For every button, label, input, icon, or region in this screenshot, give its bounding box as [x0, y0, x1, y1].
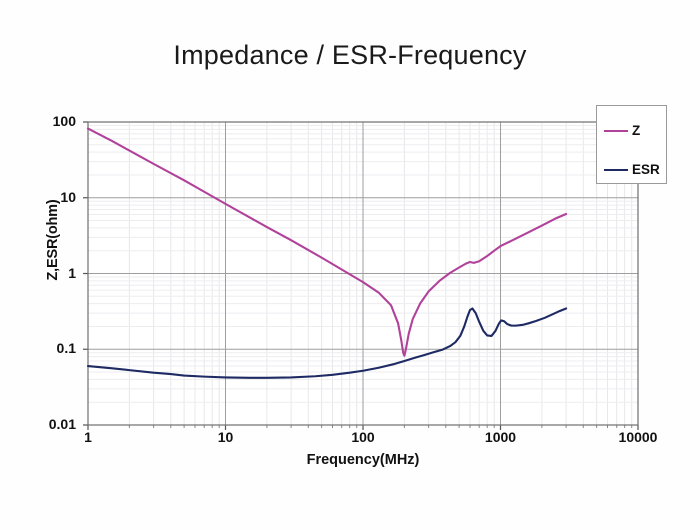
plot-svg: [0, 0, 700, 530]
legend-label-z: Z: [632, 124, 640, 138]
y-tick-label: 10: [14, 189, 76, 205]
legend-label-esr: ESR: [632, 163, 660, 177]
x-tick-label: 10: [186, 429, 266, 445]
x-tick-label: 100: [323, 429, 403, 445]
legend-swatch-esr: [604, 169, 628, 172]
chart-container: Impedance / ESR-Frequency Z,ESR(ohm) Fre…: [0, 0, 700, 530]
legend-item-z: Z: [604, 124, 640, 138]
x-axis-label: Frequency(MHz): [88, 452, 638, 468]
legend-swatch-z: [604, 130, 628, 133]
x-tick-label: 1000: [461, 429, 541, 445]
legend: Z ESR: [596, 105, 667, 184]
x-tick-label: 1: [48, 429, 128, 445]
y-tick-label: 1: [14, 265, 76, 281]
x-tick-label: 10000: [598, 429, 678, 445]
y-tick-label: 100: [14, 113, 76, 129]
legend-item-esr: ESR: [604, 163, 660, 177]
y-tick-label: 0.1: [14, 340, 76, 356]
